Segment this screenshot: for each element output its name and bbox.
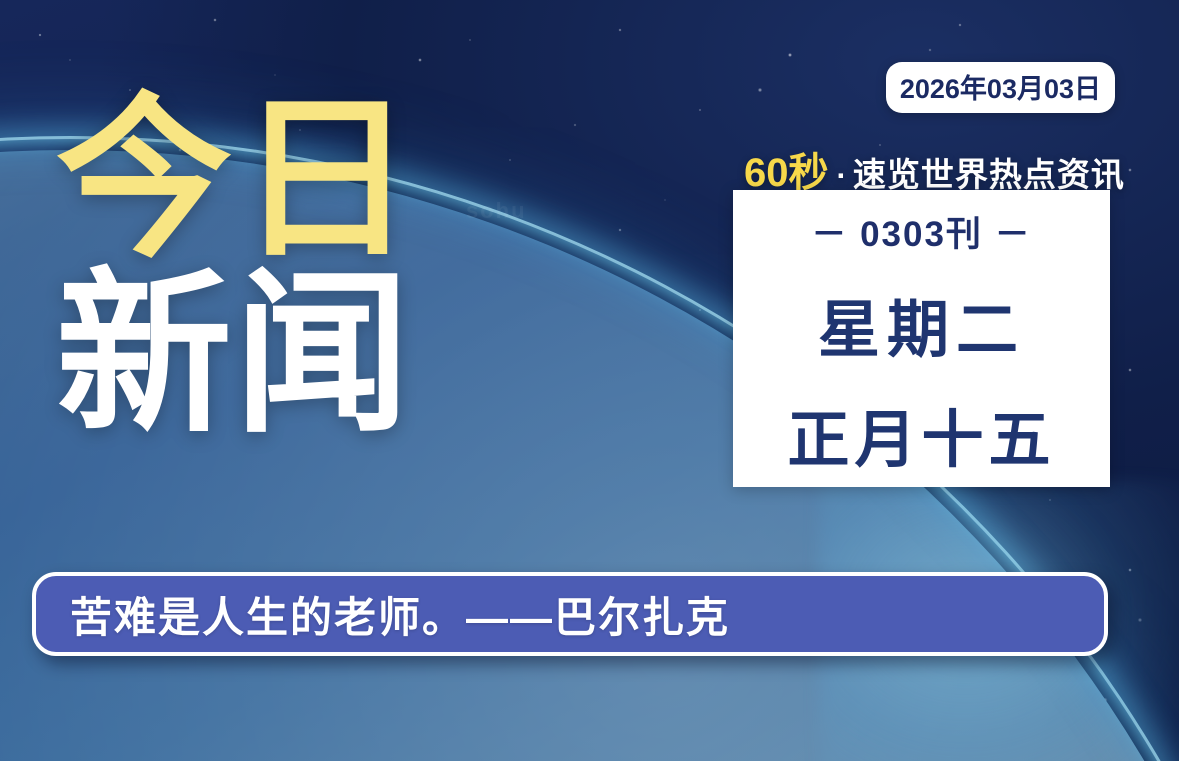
info-card: － 0303刊 － 星期二 正月十五 [733,190,1110,487]
weekday-label: 星期二 [818,279,1025,369]
headline-line-news: 新闻 [56,271,420,440]
headline: 今日 新闻 [56,96,420,440]
background-watermark: sohu [466,198,527,224]
issue-label: － 0303刊 － [811,206,1031,257]
quote-text: 苦难是人生的老师。——巴尔扎克 [70,584,730,645]
lunar-date-label: 正月十五 [787,389,1055,479]
tagline-text: 速览世界热点资讯 [853,148,1125,196]
news-poster: sohu 今日 新闻 2026年03月03日 60秒 · 速览世界热点资讯 － … [0,0,1179,761]
date-badge: 2026年03月03日 [886,62,1115,113]
headline-line-today: 今日 [56,96,420,265]
tagline-separator: · [837,158,847,194]
quote-banner: 苦难是人生的老师。——巴尔扎克 [32,572,1108,656]
